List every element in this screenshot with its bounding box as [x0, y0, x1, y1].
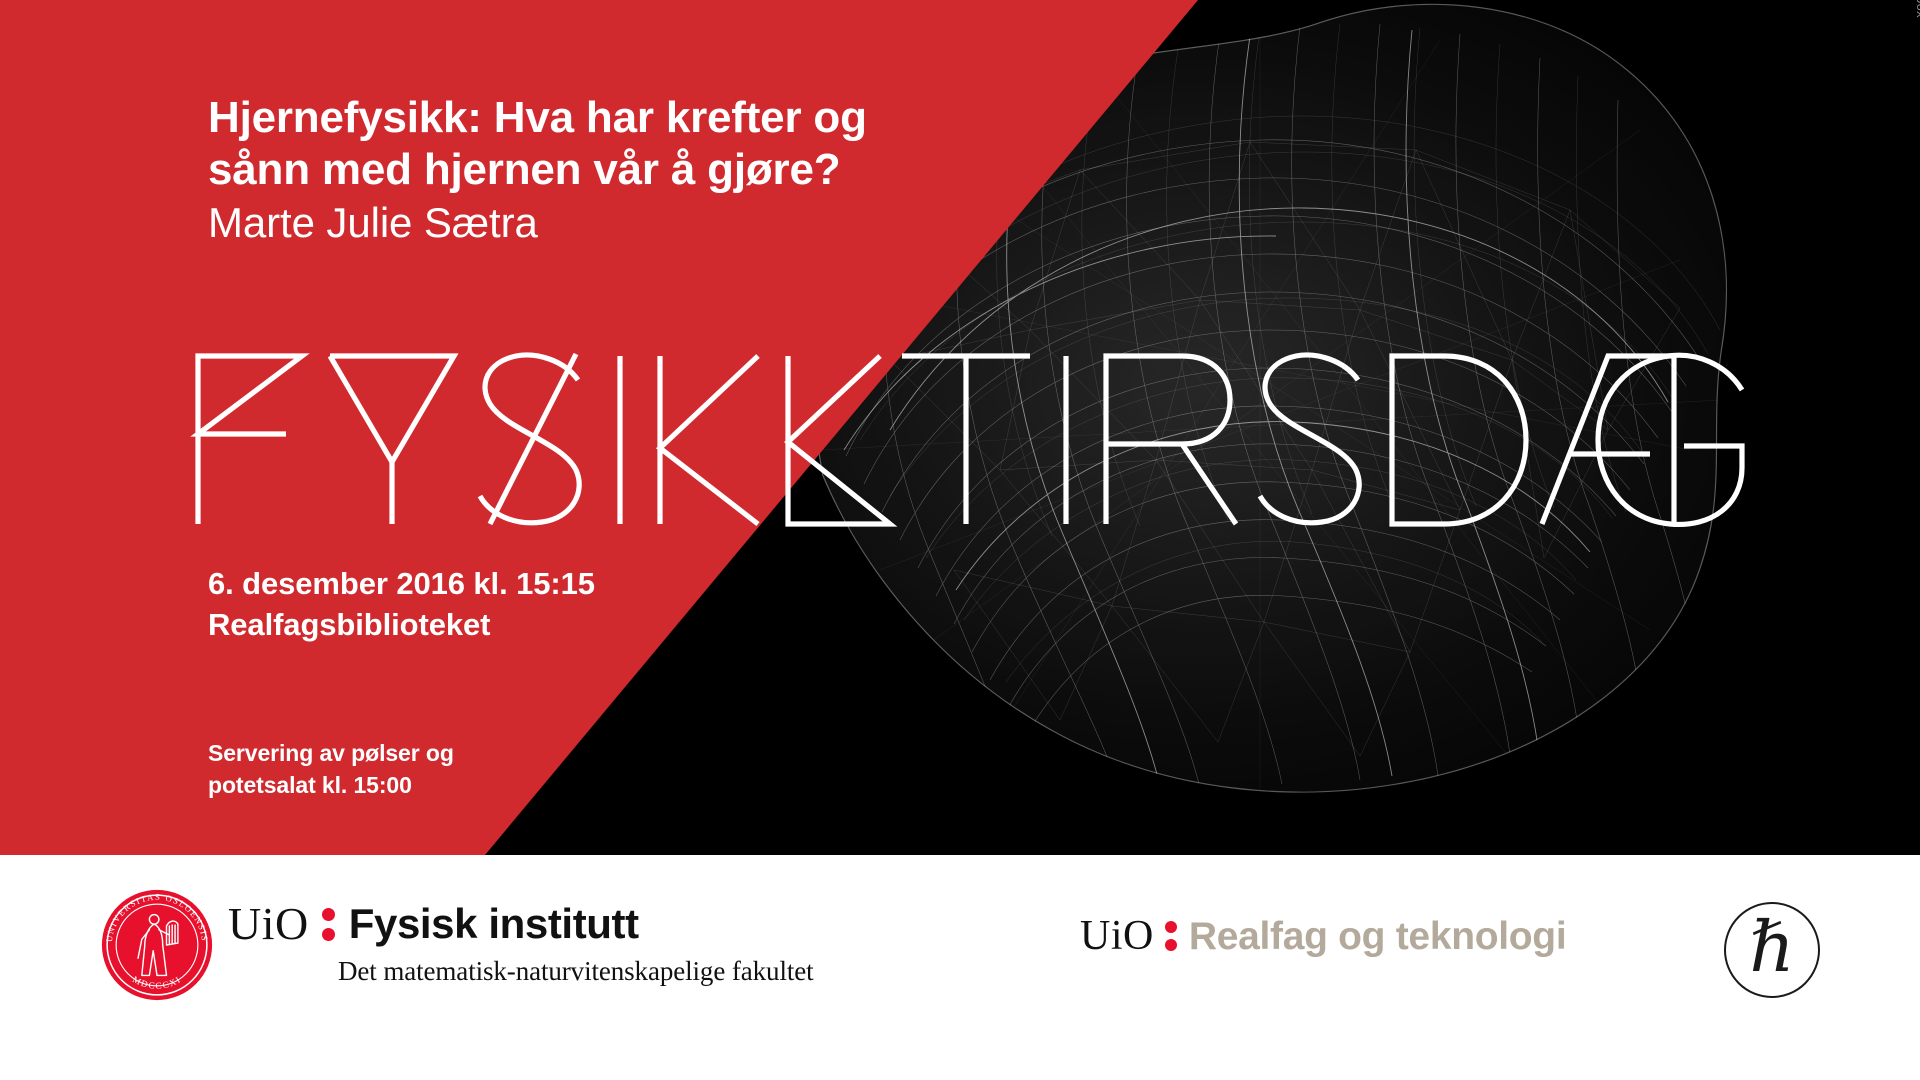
photo-credit: Bilde: Colourbox [1914, 0, 1920, 18]
event-date: 6. desember 2016 kl. 15:15 [208, 563, 595, 604]
uio-institute-lockup: UiO Fysisk institutt Det matematisk-natu… [228, 901, 814, 987]
photo-credit-source: Colourbox [1914, 0, 1920, 18]
uio-wordmark-secondary: UiO [1080, 915, 1154, 957]
uio-seal-icon: UNIVERSITAS OSLOENSIS MDCCCXI [100, 888, 214, 1002]
artwork-panel: Hjernefysikk: Hva har krefter og sånn me… [0, 0, 1920, 855]
catering-line-2: potetsalat kl. 15:00 [208, 770, 454, 802]
faculty-name: Det matematisk-naturvitenskapelige fakul… [338, 956, 814, 987]
uio-wordmark: UiO [228, 901, 309, 947]
event-date-venue: 6. desember 2016 kl. 15:15 Realfagsbibli… [208, 563, 595, 645]
talk-title-line-1: Hjernefysikk: Hva har krefter og [208, 92, 1028, 144]
uio-outreach-lockup: UiO Realfag og teknologi [1080, 915, 1566, 957]
uio-colon-icon-secondary [1165, 921, 1177, 951]
hbar-glyph-icon: ℏ [1749, 912, 1794, 982]
headline-block: Hjernefysikk: Hva har krefter og sånn me… [208, 92, 1028, 247]
event-venue: Realfagsbiblioteket [208, 604, 595, 645]
catering-note: Servering av pølser og potetsalat kl. 15… [208, 738, 454, 801]
talk-title-line-2: sånn med hjernen vår å gjøre? [208, 144, 1028, 196]
poster-canvas: Hjernefysikk: Hva har krefter og sånn me… [0, 0, 1920, 1080]
institute-name: Fysisk institutt [349, 903, 639, 945]
hbar-society-logo: ℏ [1724, 902, 1820, 998]
uio-colon-icon [322, 908, 335, 941]
catering-line-1: Servering av pølser og [208, 738, 454, 770]
outreach-name: Realfag og teknologi [1189, 917, 1567, 956]
speaker-name: Marte Julie Sætra [208, 198, 1028, 248]
logo-bar: UNIVERSITAS OSLOENSIS MDCCCXI [0, 855, 1920, 1080]
